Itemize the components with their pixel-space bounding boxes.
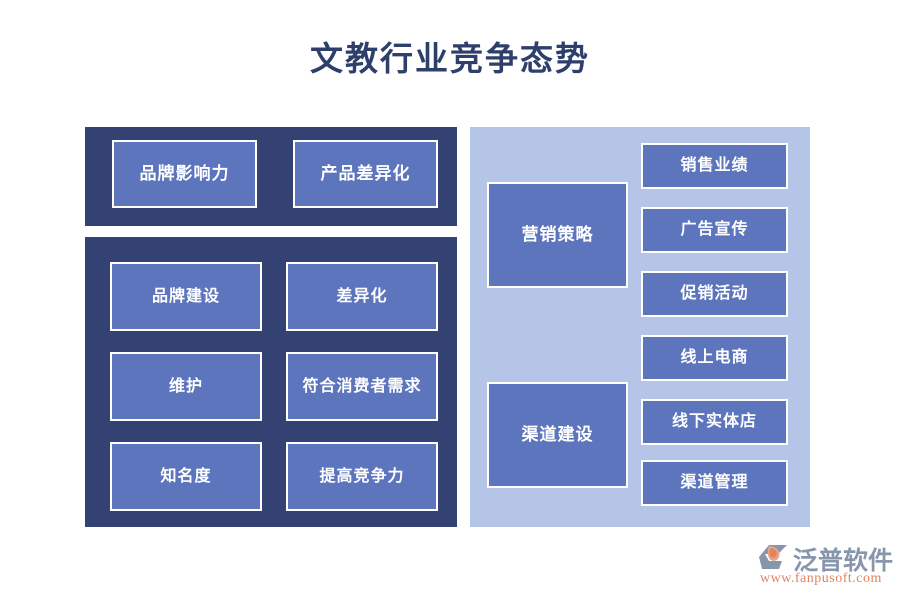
box-channel-management[interactable]: 渠道管理 — [641, 460, 788, 506]
box-awareness[interactable]: 知名度 — [110, 442, 262, 511]
box-brand-influence[interactable]: 品牌影响力 — [112, 140, 257, 208]
box-marketing-strategy[interactable]: 营销策略 — [487, 182, 628, 288]
box-label: 广告宣传 — [680, 221, 748, 239]
slide-canvas: 文教行业竞争态势 泛普软件 FANPU SOFTWARE 品牌影响力 产品差异化… — [0, 0, 900, 600]
box-label: 线下实体店 — [672, 413, 757, 431]
box-advertising[interactable]: 广告宣传 — [641, 207, 788, 253]
box-brand-building[interactable]: 品牌建设 — [110, 262, 262, 331]
box-label: 维护 — [169, 378, 203, 396]
page-title: 文教行业竞争态势 — [0, 32, 900, 80]
box-product-differentiation[interactable]: 产品差异化 — [293, 140, 438, 208]
box-offline-store[interactable]: 线下实体店 — [641, 399, 788, 445]
box-differentiation[interactable]: 差异化 — [286, 262, 438, 331]
box-maintenance[interactable]: 维护 — [110, 352, 262, 421]
box-label: 品牌影响力 — [140, 165, 230, 184]
box-channel-building[interactable]: 渠道建设 — [487, 382, 628, 488]
box-sales-performance[interactable]: 销售业绩 — [641, 143, 788, 189]
box-label: 知名度 — [160, 468, 211, 486]
company-logo-url: www.fanpusoft.com — [760, 571, 882, 587]
box-label: 差异化 — [336, 288, 387, 306]
box-label: 渠道管理 — [680, 474, 748, 492]
box-raise-competitiveness[interactable]: 提高竞争力 — [286, 442, 438, 511]
company-logo-icon — [757, 543, 789, 571]
box-label: 促销活动 — [680, 285, 748, 303]
brand-logo: 泛普软件 www.fanpusoft.com — [757, 541, 892, 589]
box-label: 品牌建设 — [152, 288, 220, 306]
box-promotion-activity[interactable]: 促销活动 — [641, 271, 788, 317]
box-label: 销售业绩 — [680, 157, 748, 175]
box-label: 符合消费者需求 — [302, 378, 421, 396]
box-online-ecommerce[interactable]: 线上电商 — [641, 335, 788, 381]
box-label: 产品差异化 — [321, 165, 411, 184]
box-label: 线上电商 — [680, 349, 748, 367]
box-label: 提高竞争力 — [319, 468, 404, 486]
box-meet-consumer-needs[interactable]: 符合消费者需求 — [286, 352, 438, 421]
box-label: 渠道建设 — [522, 426, 594, 445]
box-label: 营销策略 — [522, 226, 594, 245]
